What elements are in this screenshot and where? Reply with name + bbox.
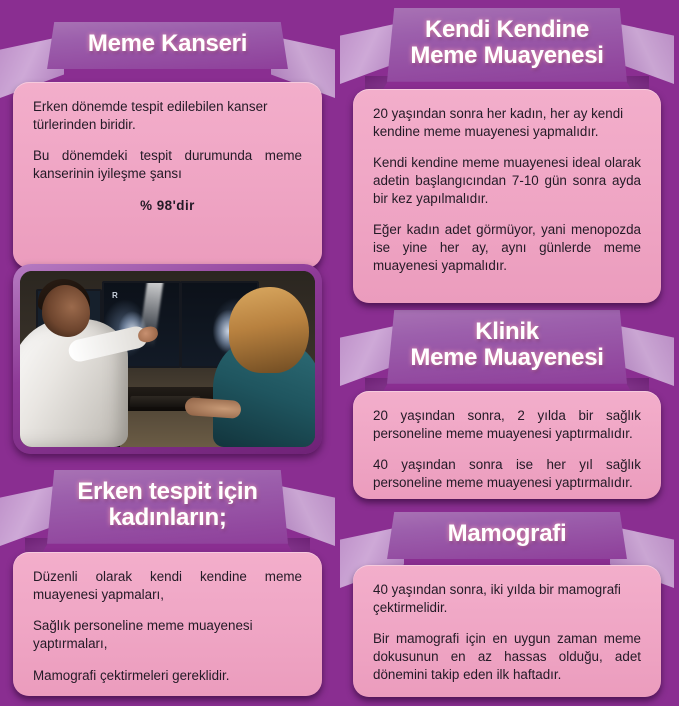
ribbon-plate: Meme Kanseri xyxy=(47,22,288,69)
statistic-value: % 98'dir xyxy=(33,197,302,215)
paragraph: Düzenli olarak kendi kendine meme muayen… xyxy=(33,568,302,603)
paragraph: 40 yaşından sonra, iki yılda bir mamogra… xyxy=(373,581,641,616)
photo-doctor-head xyxy=(42,285,90,337)
panel-title-mammography: Mamografi xyxy=(395,521,619,547)
ribbon-mammography: Mamografi xyxy=(353,512,661,559)
photo-doctor-patient-mammogram: R L xyxy=(20,271,315,447)
card-mammography: 40 yaşından sonra, iki yılda bir mamogra… xyxy=(353,565,661,697)
photo-patient-hair xyxy=(229,287,309,373)
ribbon-self-exam: Kendi Kendine Meme Muayenesi xyxy=(353,8,661,82)
paragraph: 40 yaşından sonra ise her yıl sağlık per… xyxy=(373,456,641,491)
paragraph: Erken dönemde tespit edilebilen kanser t… xyxy=(33,98,302,133)
card-self-exam: 20 yaşından sonra her kadın, her ay kend… xyxy=(353,89,661,303)
paragraph: Bu dönemdeki tespit durumunda meme kanse… xyxy=(33,147,302,182)
ribbon-plate: Klinik Meme Muayenesi xyxy=(387,310,627,384)
paragraph: 20 yaşından sonra, 2 yılda bir sağlık pe… xyxy=(373,407,641,442)
paragraph: Mamografi çektirmeleri gereklidir. xyxy=(33,667,302,685)
panel-title-early-detection: Erken tespit için kadınların; xyxy=(55,479,280,532)
photo-mammogram-label-left: R xyxy=(112,291,118,300)
panel-title-clinical-exam: Klinik Meme Muayenesi xyxy=(395,319,619,372)
photo-patient-arm xyxy=(184,397,241,419)
ribbon-plate: Mamografi xyxy=(387,512,627,559)
card-breast-cancer: Erken dönemde tespit edilebilen kanser t… xyxy=(13,82,322,268)
infographic-root: Meme Kanseri Erken dönemde tespit edileb… xyxy=(0,0,679,706)
photo-frame: R L xyxy=(13,264,322,454)
paragraph: 20 yaşından sonra her kadın, her ay kend… xyxy=(373,105,641,140)
paragraph: Sağlık personeline meme muayenesi yaptır… xyxy=(33,617,302,652)
paragraph: Bir mamografi için en uygun zaman meme d… xyxy=(373,630,641,683)
panel-title-breast-cancer: Meme Kanseri xyxy=(55,31,280,57)
ribbon-breast-cancer: Meme Kanseri xyxy=(13,22,322,69)
panel-title-self-exam: Kendi Kendine Meme Muayenesi xyxy=(395,17,619,70)
card-early-detection: Düzenli olarak kendi kendine meme muayen… xyxy=(13,552,322,696)
card-clinical-exam: 20 yaşından sonra, 2 yılda bir sağlık pe… xyxy=(353,391,661,499)
ribbon-plate: Erken tespit için kadınların; xyxy=(47,470,288,544)
ribbon-plate: Kendi Kendine Meme Muayenesi xyxy=(387,8,627,82)
ribbon-clinical-exam: Klinik Meme Muayenesi xyxy=(353,310,661,384)
ribbon-early-detection: Erken tespit için kadınların; xyxy=(13,470,322,544)
paragraph: Eğer kadın adet görmüyor, yani menopozda… xyxy=(373,221,641,274)
paragraph: Kendi kendine meme muayenesi ideal olara… xyxy=(373,154,641,207)
